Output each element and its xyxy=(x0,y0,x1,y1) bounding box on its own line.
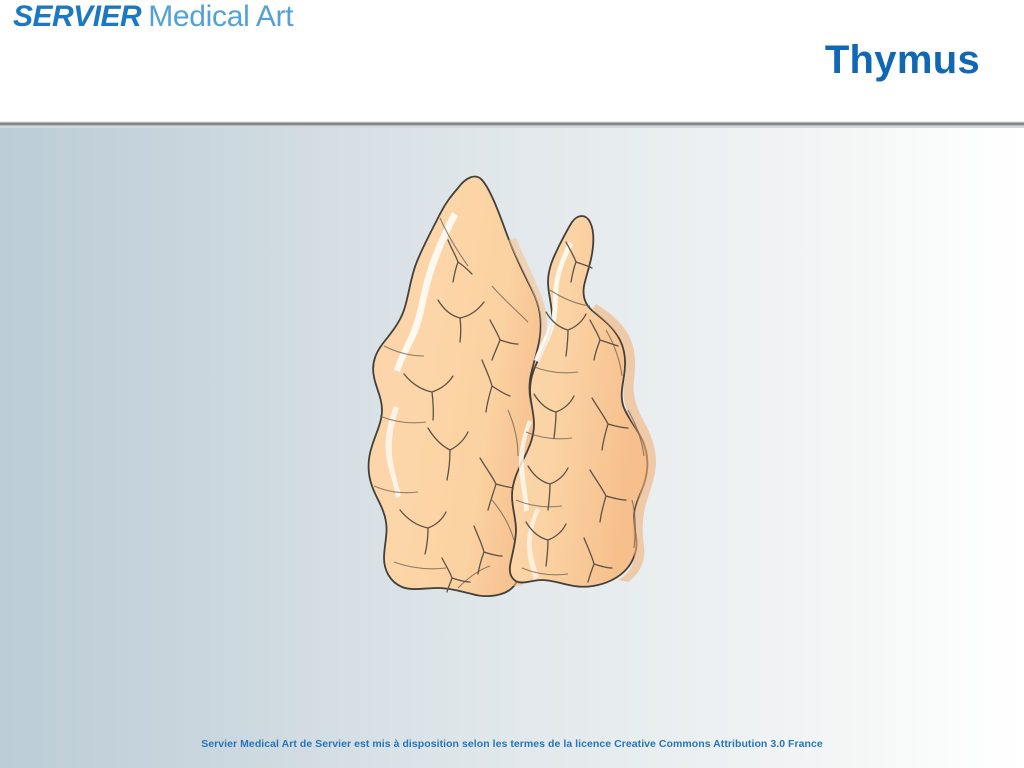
slide-canvas xyxy=(0,126,1024,768)
servier-medical-art-logo: SERVIERMedical Art xyxy=(13,2,293,32)
thymus-illustration-svg xyxy=(340,170,680,650)
license-credit: Servier Medical Art de Servier est mis à… xyxy=(0,738,1024,750)
thymus-illustration xyxy=(340,170,680,650)
slide: SERVIERMedical Art Thymus xyxy=(0,0,1024,768)
logo-suffix-text: Medical Art xyxy=(148,0,293,33)
header-divider xyxy=(0,121,1024,128)
slide-header: SERVIERMedical Art Thymus xyxy=(0,0,1024,122)
page-title: Thymus xyxy=(825,40,980,80)
logo-brand-text: SERVIER xyxy=(13,0,141,33)
thymus-right-lobe xyxy=(510,216,656,587)
